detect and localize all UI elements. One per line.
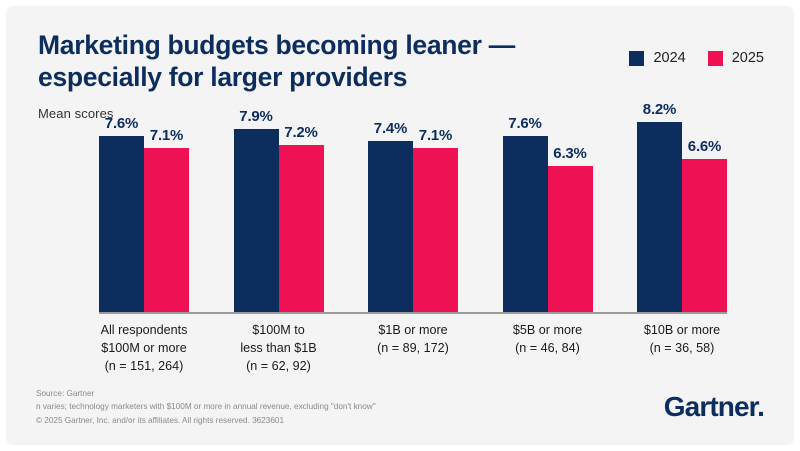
x-axis-label-n: (n = 89, 172) bbox=[368, 340, 458, 358]
bar-2024-2[interactable]: 7.9% bbox=[234, 122, 279, 312]
x-axis-label-line: $100M or more bbox=[99, 340, 189, 358]
x-axis-label-n: (n = 151, 264) bbox=[99, 358, 189, 376]
bar-value-label: 7.1% bbox=[150, 127, 183, 144]
legend-label-2024: 2024 bbox=[653, 50, 685, 66]
bar-2024-1[interactable]: 7.6% bbox=[99, 122, 144, 312]
x-axis-label-n: (n = 46, 84) bbox=[503, 340, 593, 358]
bar-2024-3[interactable]: 7.4% bbox=[368, 122, 413, 312]
legend-label-2025: 2025 bbox=[732, 50, 764, 66]
legend-swatch-2025 bbox=[708, 51, 723, 66]
bar-value-label: 7.6% bbox=[105, 115, 138, 132]
bar-value-label: 7.1% bbox=[419, 127, 452, 144]
bar-rect bbox=[682, 159, 727, 312]
footnote-source: Source: Gartner bbox=[36, 387, 376, 400]
chart-legend: 2024 2025 bbox=[629, 50, 764, 66]
x-axis-label-line: $1B or more bbox=[368, 322, 458, 340]
bar-group: 7.4%7.1% bbox=[368, 122, 458, 312]
bar-group: 7.6%6.3% bbox=[503, 122, 593, 312]
x-axis-label-3: $1B or more(n = 89, 172) bbox=[368, 322, 458, 376]
bar-2024-4[interactable]: 7.6% bbox=[503, 122, 548, 312]
bar-2025-4[interactable]: 6.3% bbox=[548, 122, 593, 312]
bar-2025-3[interactable]: 7.1% bbox=[413, 122, 458, 312]
footnote-note: n varies; technology marketers with $100… bbox=[36, 400, 376, 413]
bar-rect bbox=[368, 141, 413, 312]
x-axis-label-line: $100M to bbox=[234, 322, 324, 340]
x-axis-label-line: less than $1B bbox=[234, 340, 324, 358]
bar-value-label: 7.6% bbox=[508, 115, 541, 132]
bar-value-label: 6.3% bbox=[553, 145, 586, 162]
bar-rect bbox=[99, 136, 144, 312]
bar-group: 8.2%6.6% bbox=[637, 122, 727, 312]
x-axis-label-line: $10B or more bbox=[637, 322, 727, 340]
x-axis-label-1: All respondents$100M or more(n = 151, 26… bbox=[99, 322, 189, 376]
gartner-logo-dot: . bbox=[757, 391, 764, 422]
legend-item-2024[interactable]: 2024 bbox=[629, 50, 685, 66]
page-title: Marketing budgets becoming leaner — espe… bbox=[38, 30, 558, 94]
x-axis-line bbox=[99, 312, 727, 314]
gartner-logo: Gartner. bbox=[664, 391, 764, 423]
bar-rect bbox=[637, 122, 682, 312]
bar-rect bbox=[503, 136, 548, 312]
bar-group: 7.9%7.2% bbox=[234, 122, 324, 312]
bar-value-label: 7.2% bbox=[284, 124, 317, 141]
plot-area: 7.6%7.1%7.9%7.2%7.4%7.1%7.6%6.3%8.2%6.6% bbox=[99, 122, 727, 314]
bar-2025-1[interactable]: 7.1% bbox=[144, 122, 189, 312]
gartner-logo-text: Gartner bbox=[664, 391, 757, 422]
x-axis-label-line: All respondents bbox=[99, 322, 189, 340]
bar-value-label: 8.2% bbox=[643, 101, 676, 118]
bar-groups: 7.6%7.1%7.9%7.2%7.4%7.1%7.6%6.3%8.2%6.6% bbox=[99, 122, 727, 312]
x-axis-category-labels: All respondents$100M or more(n = 151, 26… bbox=[99, 322, 727, 376]
bar-rect bbox=[548, 166, 593, 312]
bar-2025-5[interactable]: 6.6% bbox=[682, 122, 727, 312]
bar-value-label: 7.4% bbox=[374, 120, 407, 137]
bar-rect bbox=[234, 129, 279, 312]
legend-swatch-2024 bbox=[629, 51, 644, 66]
legend-item-2025[interactable]: 2025 bbox=[708, 50, 764, 66]
bar-value-label: 7.9% bbox=[239, 108, 272, 125]
x-axis-label-2: $100M toless than $1B(n = 62, 92) bbox=[234, 322, 324, 376]
bar-value-label: 6.6% bbox=[688, 138, 721, 155]
x-axis-label-n: (n = 62, 92) bbox=[234, 358, 324, 376]
x-axis-label-line: $5B or more bbox=[503, 322, 593, 340]
x-axis-label-n: (n = 36, 58) bbox=[637, 340, 727, 358]
bar-group: 7.6%7.1% bbox=[99, 122, 189, 312]
x-axis-label-4: $5B or more(n = 46, 84) bbox=[503, 322, 593, 376]
bar-rect bbox=[144, 148, 189, 313]
bar-rect bbox=[279, 145, 324, 312]
bar-rect bbox=[413, 148, 458, 313]
footnote: Source: Gartner n varies; technology mar… bbox=[36, 387, 376, 427]
bar-2024-5[interactable]: 8.2% bbox=[637, 122, 682, 312]
x-axis-label-5: $10B or more(n = 36, 58) bbox=[637, 322, 727, 376]
bar-2025-2[interactable]: 7.2% bbox=[279, 122, 324, 312]
footnote-copyright: © 2025 Gartner, Inc. and/or its affiliat… bbox=[36, 414, 376, 427]
chart-card: Marketing budgets becoming leaner — espe… bbox=[6, 6, 794, 445]
